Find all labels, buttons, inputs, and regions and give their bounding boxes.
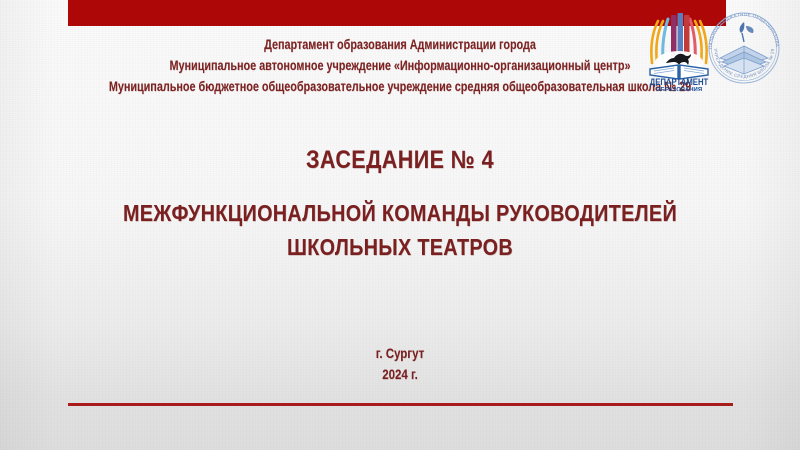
org-line-school: Муниципальное бюджетное общеобразователь… [80,76,720,97]
title-line-team: МЕЖФУНКЦИОНАЛЬНОЙ КОМАНДЫ РУКОВОДИТЕЛЕЙ [56,198,744,229]
footer-year: 2024 г. [72,364,728,385]
footer-city: г. Сургут [72,343,728,364]
org-line-department: Департамент образования Администрации го… [80,34,720,55]
top-red-banner [68,0,726,26]
svg-text:МУНИЦИПАЛЬНОЕ БЮДЖЕТНОЕ ОБЩЕОБ: МУНИЦИПАЛЬНОЕ БЮДЖЕТНОЕ ОБЩЕОБРАЗОВАТЕЛЬ… [698,2,780,49]
school-emblem-logo: МУНИЦИПАЛЬНОЕ БЮДЖЕТНОЕ ОБЩЕОБРАЗОВАТЕЛЬ… [698,2,790,94]
org-line-center: Муниципальное автономное учреждение «Инф… [80,55,720,76]
logo-group: ДЕПАРТАМЕНТ ОБРАЗОВАНИЯ МУНИЦИПАЛЬНОЕ БЮ… [636,2,794,94]
title-slide: ДЕПАРТАМЕНТ ОБРАЗОВАНИЯ МУНИЦИПАЛЬНОЕ БЮ… [0,0,800,450]
page-title: ЗАСЕДАНИЕ № 4 МЕЖФУНКЦИОНАЛЬНОЙ КОМАНДЫ … [0,143,800,263]
footer-place-date: г. Сургут 2024 г. [0,343,800,385]
svg-text:ОБРАЗОВАНИЯ: ОБРАЗОВАНИЯ [656,86,703,91]
bottom-red-rule [68,403,733,406]
title-line-meeting-number: ЗАСЕДАНИЕ № 4 [56,143,744,177]
title-line-theatres: ШКОЛЬНЫХ ТЕАТРОВ [56,232,744,263]
